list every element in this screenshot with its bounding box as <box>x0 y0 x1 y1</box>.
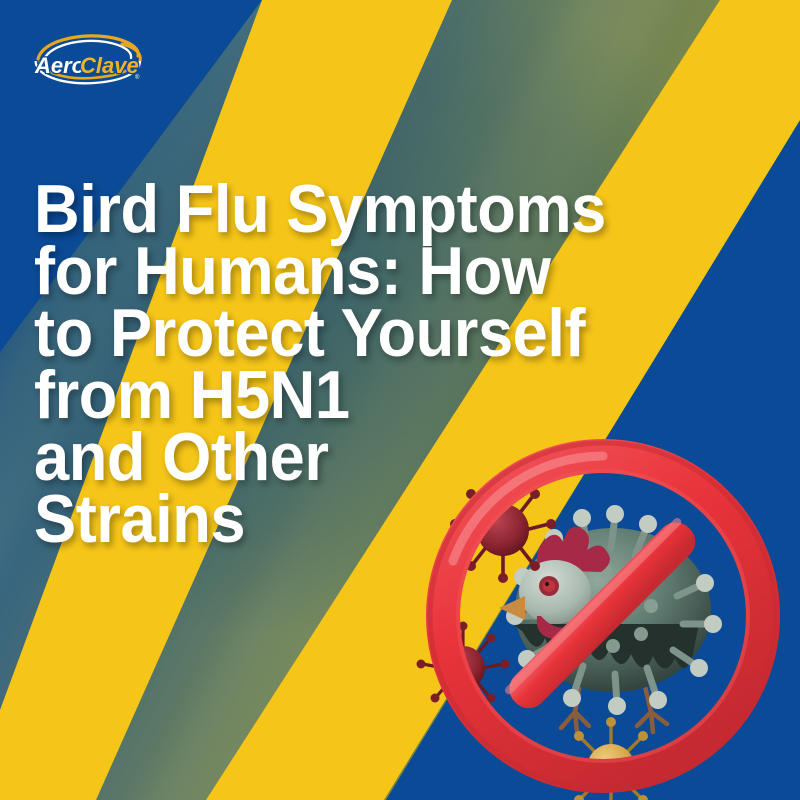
headline-line-2: for Humans: How <box>34 240 705 302</box>
social-graphic-canvas: Aero Clave ® Bird Flu Symptoms for Human… <box>0 0 800 800</box>
logo-word-clave: Clave <box>80 53 139 78</box>
logo-trademark-icon: ® <box>135 74 140 81</box>
headline-line-3: to Protect Yourself <box>34 302 705 364</box>
no-bird-flu-illustration <box>415 420 800 800</box>
headline-line-1: Bird Flu Symptoms <box>34 178 705 240</box>
headline-line-4: from H5N1 <box>34 364 705 426</box>
prohibition-sign <box>430 443 776 789</box>
aeroclave-logo[interactable]: Aero Clave ® <box>22 31 154 89</box>
logo-word-aero: Aero <box>34 53 85 78</box>
bird-eye <box>543 580 555 592</box>
